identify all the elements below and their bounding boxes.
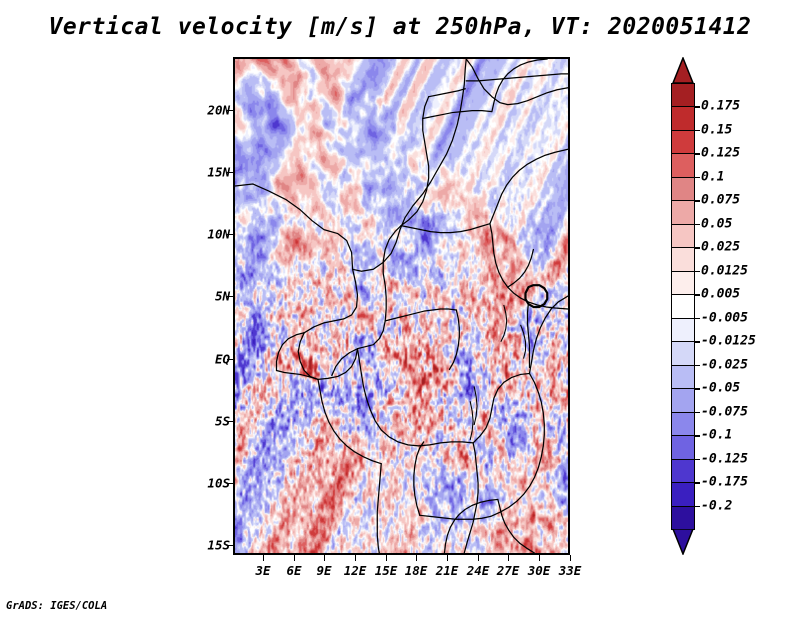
colorbar-tick xyxy=(695,412,700,414)
colorbar-swatch xyxy=(671,106,695,131)
colorbar-swatch xyxy=(671,153,695,178)
colorbar: 0.1750.150.1250.10.0750.050.0250.01250.0… xyxy=(671,57,695,555)
y-axis-label: 15S xyxy=(207,538,230,553)
colorbar-label: 0.125 xyxy=(701,146,740,161)
x-axis-tick xyxy=(508,555,509,561)
colorbar-label: 0.0125 xyxy=(701,263,748,278)
colorbar-label: -0.0125 xyxy=(701,334,756,349)
colorbar-tick xyxy=(695,318,700,320)
colorbar-tick xyxy=(695,365,700,367)
colorbar-label: -0.125 xyxy=(701,451,748,466)
colorbar-tick xyxy=(695,341,700,343)
colorbar-swatch xyxy=(671,200,695,225)
y-axis-label: 20N xyxy=(207,103,230,118)
x-axis-tick xyxy=(570,555,571,561)
colorbar-tick xyxy=(695,271,700,273)
colorbar-label: 0.1 xyxy=(701,169,724,184)
colorbar-swatch xyxy=(671,247,695,272)
colorbar-tick xyxy=(695,177,700,179)
x-axis-label: 30E xyxy=(528,563,551,578)
colorbar-label: -0.05 xyxy=(701,381,740,396)
x-axis-label: 3E xyxy=(255,563,270,578)
colorbar-swatch xyxy=(671,177,695,202)
x-axis-tick xyxy=(539,555,540,561)
y-axis-label: 10S xyxy=(207,476,230,491)
colorbar-label: 0.15 xyxy=(701,122,732,137)
map-plot-area: 3E 6E 9E 12E 15E 18E 21E 24E 27E 30E 33E… xyxy=(233,57,570,555)
colorbar-label: 0.005 xyxy=(701,287,740,302)
colorbar-swatch xyxy=(671,482,695,507)
map-frame xyxy=(233,57,570,555)
colorbar-top-arrow xyxy=(671,57,695,83)
colorbar-tick xyxy=(695,130,700,132)
colorbar-label: -0.2 xyxy=(701,498,732,513)
x-axis-label: 24E xyxy=(467,563,490,578)
colorbar-swatch xyxy=(671,294,695,319)
colorbar-tick xyxy=(695,435,700,437)
colorbar-swatch xyxy=(671,388,695,413)
colorbar-swatch xyxy=(671,130,695,155)
x-axis-tick xyxy=(324,555,325,561)
colorbar-label: 0.175 xyxy=(701,99,740,114)
y-axis-label: 10N xyxy=(207,227,230,242)
x-axis-label: 15E xyxy=(375,563,398,578)
x-axis-tick xyxy=(355,555,356,561)
x-axis-label: 18E xyxy=(405,563,428,578)
colorbar-label: 0.075 xyxy=(701,193,740,208)
colorbar-swatch xyxy=(671,271,695,296)
colorbar-label: -0.005 xyxy=(701,310,748,325)
colorbar-swatch xyxy=(671,365,695,390)
colorbar-label: -0.1 xyxy=(701,428,732,443)
x-axis-label: 9E xyxy=(316,563,331,578)
colorbar-swatch xyxy=(671,224,695,249)
colorbar-tick xyxy=(695,247,700,249)
chart-title: Vertical velocity [m/s] at 250hPa, VT: 2… xyxy=(0,14,800,40)
colorbar-swatch xyxy=(671,83,695,108)
colorbar-swatch xyxy=(671,318,695,343)
colorbar-tick xyxy=(695,224,700,226)
grads-attribution: GrADS: IGES/COLA xyxy=(6,600,107,612)
x-axis-label: 27E xyxy=(497,563,520,578)
colorbar-swatch xyxy=(671,435,695,460)
y-axis-label: 5S xyxy=(215,414,230,429)
x-axis-label: 21E xyxy=(436,563,459,578)
colorbar-tick xyxy=(695,106,700,108)
x-axis-tick xyxy=(294,555,295,561)
colorbar-label: -0.175 xyxy=(701,475,748,490)
x-axis-tick xyxy=(447,555,448,561)
colorbar-tick xyxy=(695,506,700,508)
x-axis-tick xyxy=(478,555,479,561)
y-axis-label: EQ xyxy=(215,352,230,367)
colorbar-bottom-arrow xyxy=(671,529,695,555)
colorbar-tick xyxy=(695,294,700,296)
colorbar-tick xyxy=(695,200,700,202)
colorbar-label: 0.05 xyxy=(701,216,732,231)
colorbar-swatch xyxy=(671,412,695,437)
country-borders-overlay xyxy=(235,59,568,553)
y-axis-label: 5N xyxy=(215,289,230,304)
x-axis-label: 12E xyxy=(344,563,367,578)
x-axis-tick xyxy=(386,555,387,561)
colorbar-label: -0.075 xyxy=(701,404,748,419)
colorbar-swatch xyxy=(671,459,695,484)
colorbar-tick xyxy=(695,482,700,484)
y-axis-label: 15N xyxy=(207,165,230,180)
colorbar-tick xyxy=(695,388,700,390)
colorbar-swatch xyxy=(671,341,695,366)
x-axis-tick xyxy=(416,555,417,561)
x-axis-tick xyxy=(263,555,264,561)
x-axis-label: 33E xyxy=(559,563,582,578)
x-axis-label: 6E xyxy=(286,563,301,578)
colorbar-tick xyxy=(695,153,700,155)
colorbar-tick xyxy=(695,459,700,461)
colorbar-label: -0.025 xyxy=(701,357,748,372)
colorbar-swatch xyxy=(671,506,695,531)
colorbar-label: 0.025 xyxy=(701,240,740,255)
